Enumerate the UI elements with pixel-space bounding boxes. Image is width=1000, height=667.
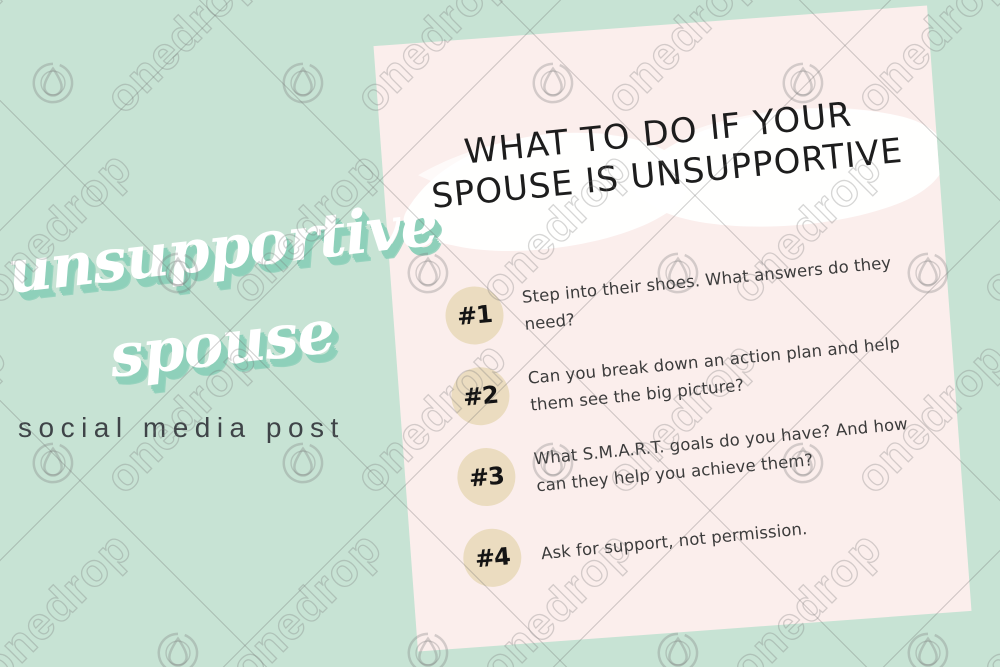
watermark-text: onedrop [0, 520, 142, 667]
watermark-text: onedrop [969, 140, 1000, 313]
tip-text: Ask for support, not permission. [540, 516, 809, 568]
watermark-text: onedrop [219, 520, 392, 667]
post-card-surface: WHAT TO DO IF YOUR SPOUSE IS UNSUPPORTIV… [374, 5, 972, 651]
tips-list: #1 Step into their shoes. What answers d… [443, 254, 945, 612]
watermark-text: onedrop [969, 520, 1000, 667]
watermark-text: onedrop [94, 0, 267, 124]
onedrop-droplet-logo-icon [655, 630, 701, 667]
promo-text-block: unsupportive spouse social media post [0, 232, 430, 462]
tip-number-badge: #3 [455, 446, 518, 509]
onedrop-droplet-logo-icon [30, 60, 76, 106]
promo-script-line-2: spouse [106, 297, 338, 392]
tip-text: Step into their shoes. What answers do t… [521, 247, 926, 338]
onedrop-droplet-logo-icon [280, 60, 326, 106]
tip-text: What S.M.A.R.T. goals do you have? And h… [533, 409, 938, 500]
onedrop-droplet-logo-icon [905, 630, 951, 667]
tip-number-badge: #2 [449, 365, 512, 428]
watermark-text: onedrop [0, 0, 17, 124]
post-card: WHAT TO DO IF YOUR SPOUSE IS UNSUPPORTIV… [374, 5, 972, 651]
tip-text: Can you break down an action plan and he… [527, 328, 932, 419]
promo-script-line-1: unsupportive [4, 189, 441, 307]
onedrop-droplet-logo-icon [155, 630, 201, 667]
card-headline: WHAT TO DO IF YOUR SPOUSE IS UNSUPPORTIV… [380, 93, 940, 216]
list-item: #4 Ask for support, not permission. [461, 496, 944, 589]
list-item: #1 Step into their shoes. What answers d… [443, 254, 926, 347]
promo-subtitle: social media post [18, 412, 345, 444]
tip-number-badge: #1 [443, 284, 506, 347]
poster-canvas: unsupportive spouse social media post WH… [0, 0, 1000, 667]
list-item: #2 Can you break down an action plan and… [449, 334, 932, 427]
list-item: #3 What S.M.A.R.T. goals do you have? An… [455, 415, 938, 508]
tip-number-badge: #4 [461, 526, 524, 589]
